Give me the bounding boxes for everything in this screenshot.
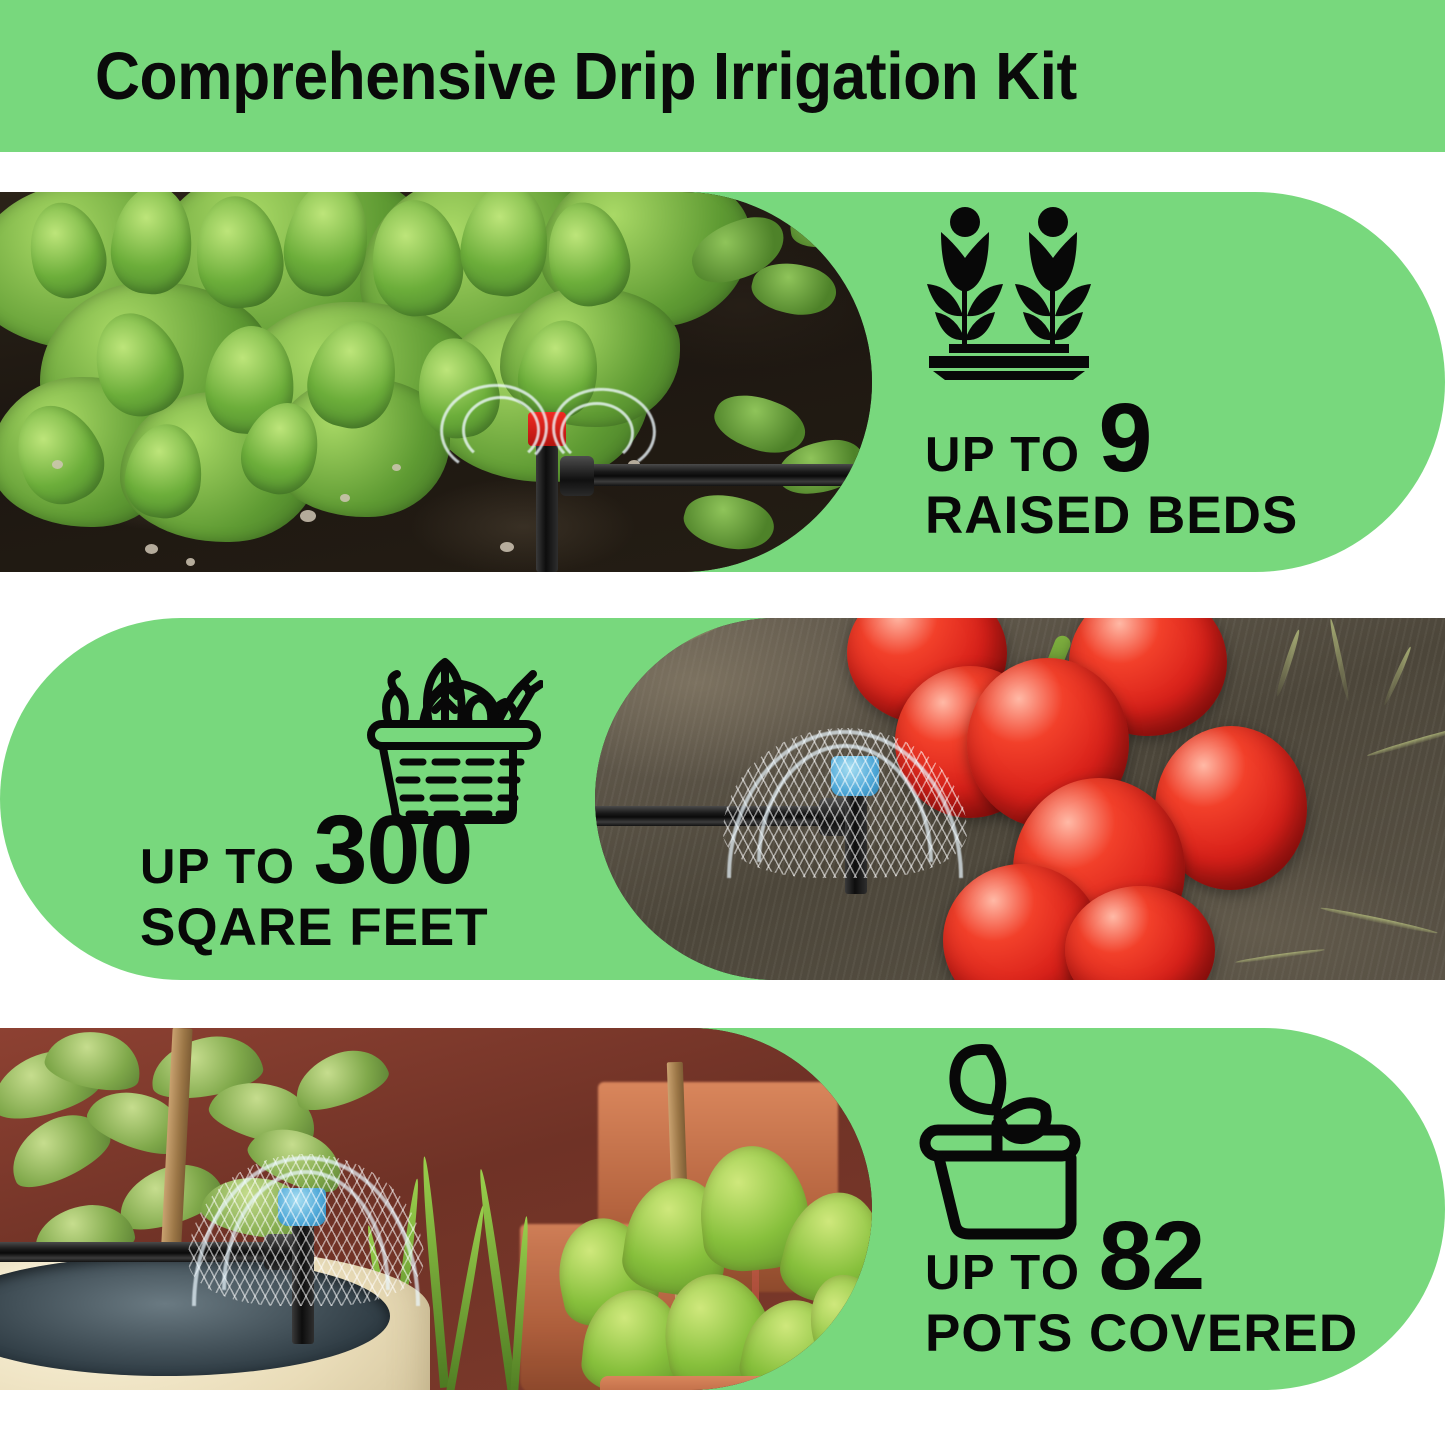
caption-text: SQARE FEET [140,900,489,956]
infographic-page: Comprehensive Drip Irrigation Kit [0,0,1445,1445]
caption-text: RAISED BEDS [925,488,1298,544]
feature-row-raised-beds: UP TO 9 RAISED BEDS [0,192,1445,572]
callout-square-feet: UP TO 300 SQARE FEET [140,808,489,956]
value-number: 9 [1098,396,1151,479]
value-number: 82 [1098,1214,1204,1297]
page-title: Comprehensive Drip Irrigation Kit [95,38,1077,115]
up-to-label: UP TO [140,843,295,892]
callout-pots-covered: UP TO 82 POTS COVERED [925,1214,1358,1362]
feature-row-pots-covered: UP TO 82 POTS COVERED [0,1028,1445,1390]
up-to-label: UP TO [925,1249,1080,1298]
tomatoes-with-blue-dripper-photo [595,618,1445,980]
callout-raised-beds: UP TO 9 RAISED BEDS [925,396,1298,544]
feature-row-square-feet: UP TO 300 SQARE FEET [0,618,1445,980]
title-banner: Comprehensive Drip Irrigation Kit [0,0,1445,152]
caption-text: POTS COVERED [925,1306,1358,1362]
value-number: 300 [313,808,472,891]
two-tulips-in-planter-box-icon [925,204,1095,385]
celery-bed-with-red-dripper-photo [0,192,872,572]
container-garden-with-blue-dripper-photo [0,1028,872,1390]
up-to-label: UP TO [925,431,1080,480]
